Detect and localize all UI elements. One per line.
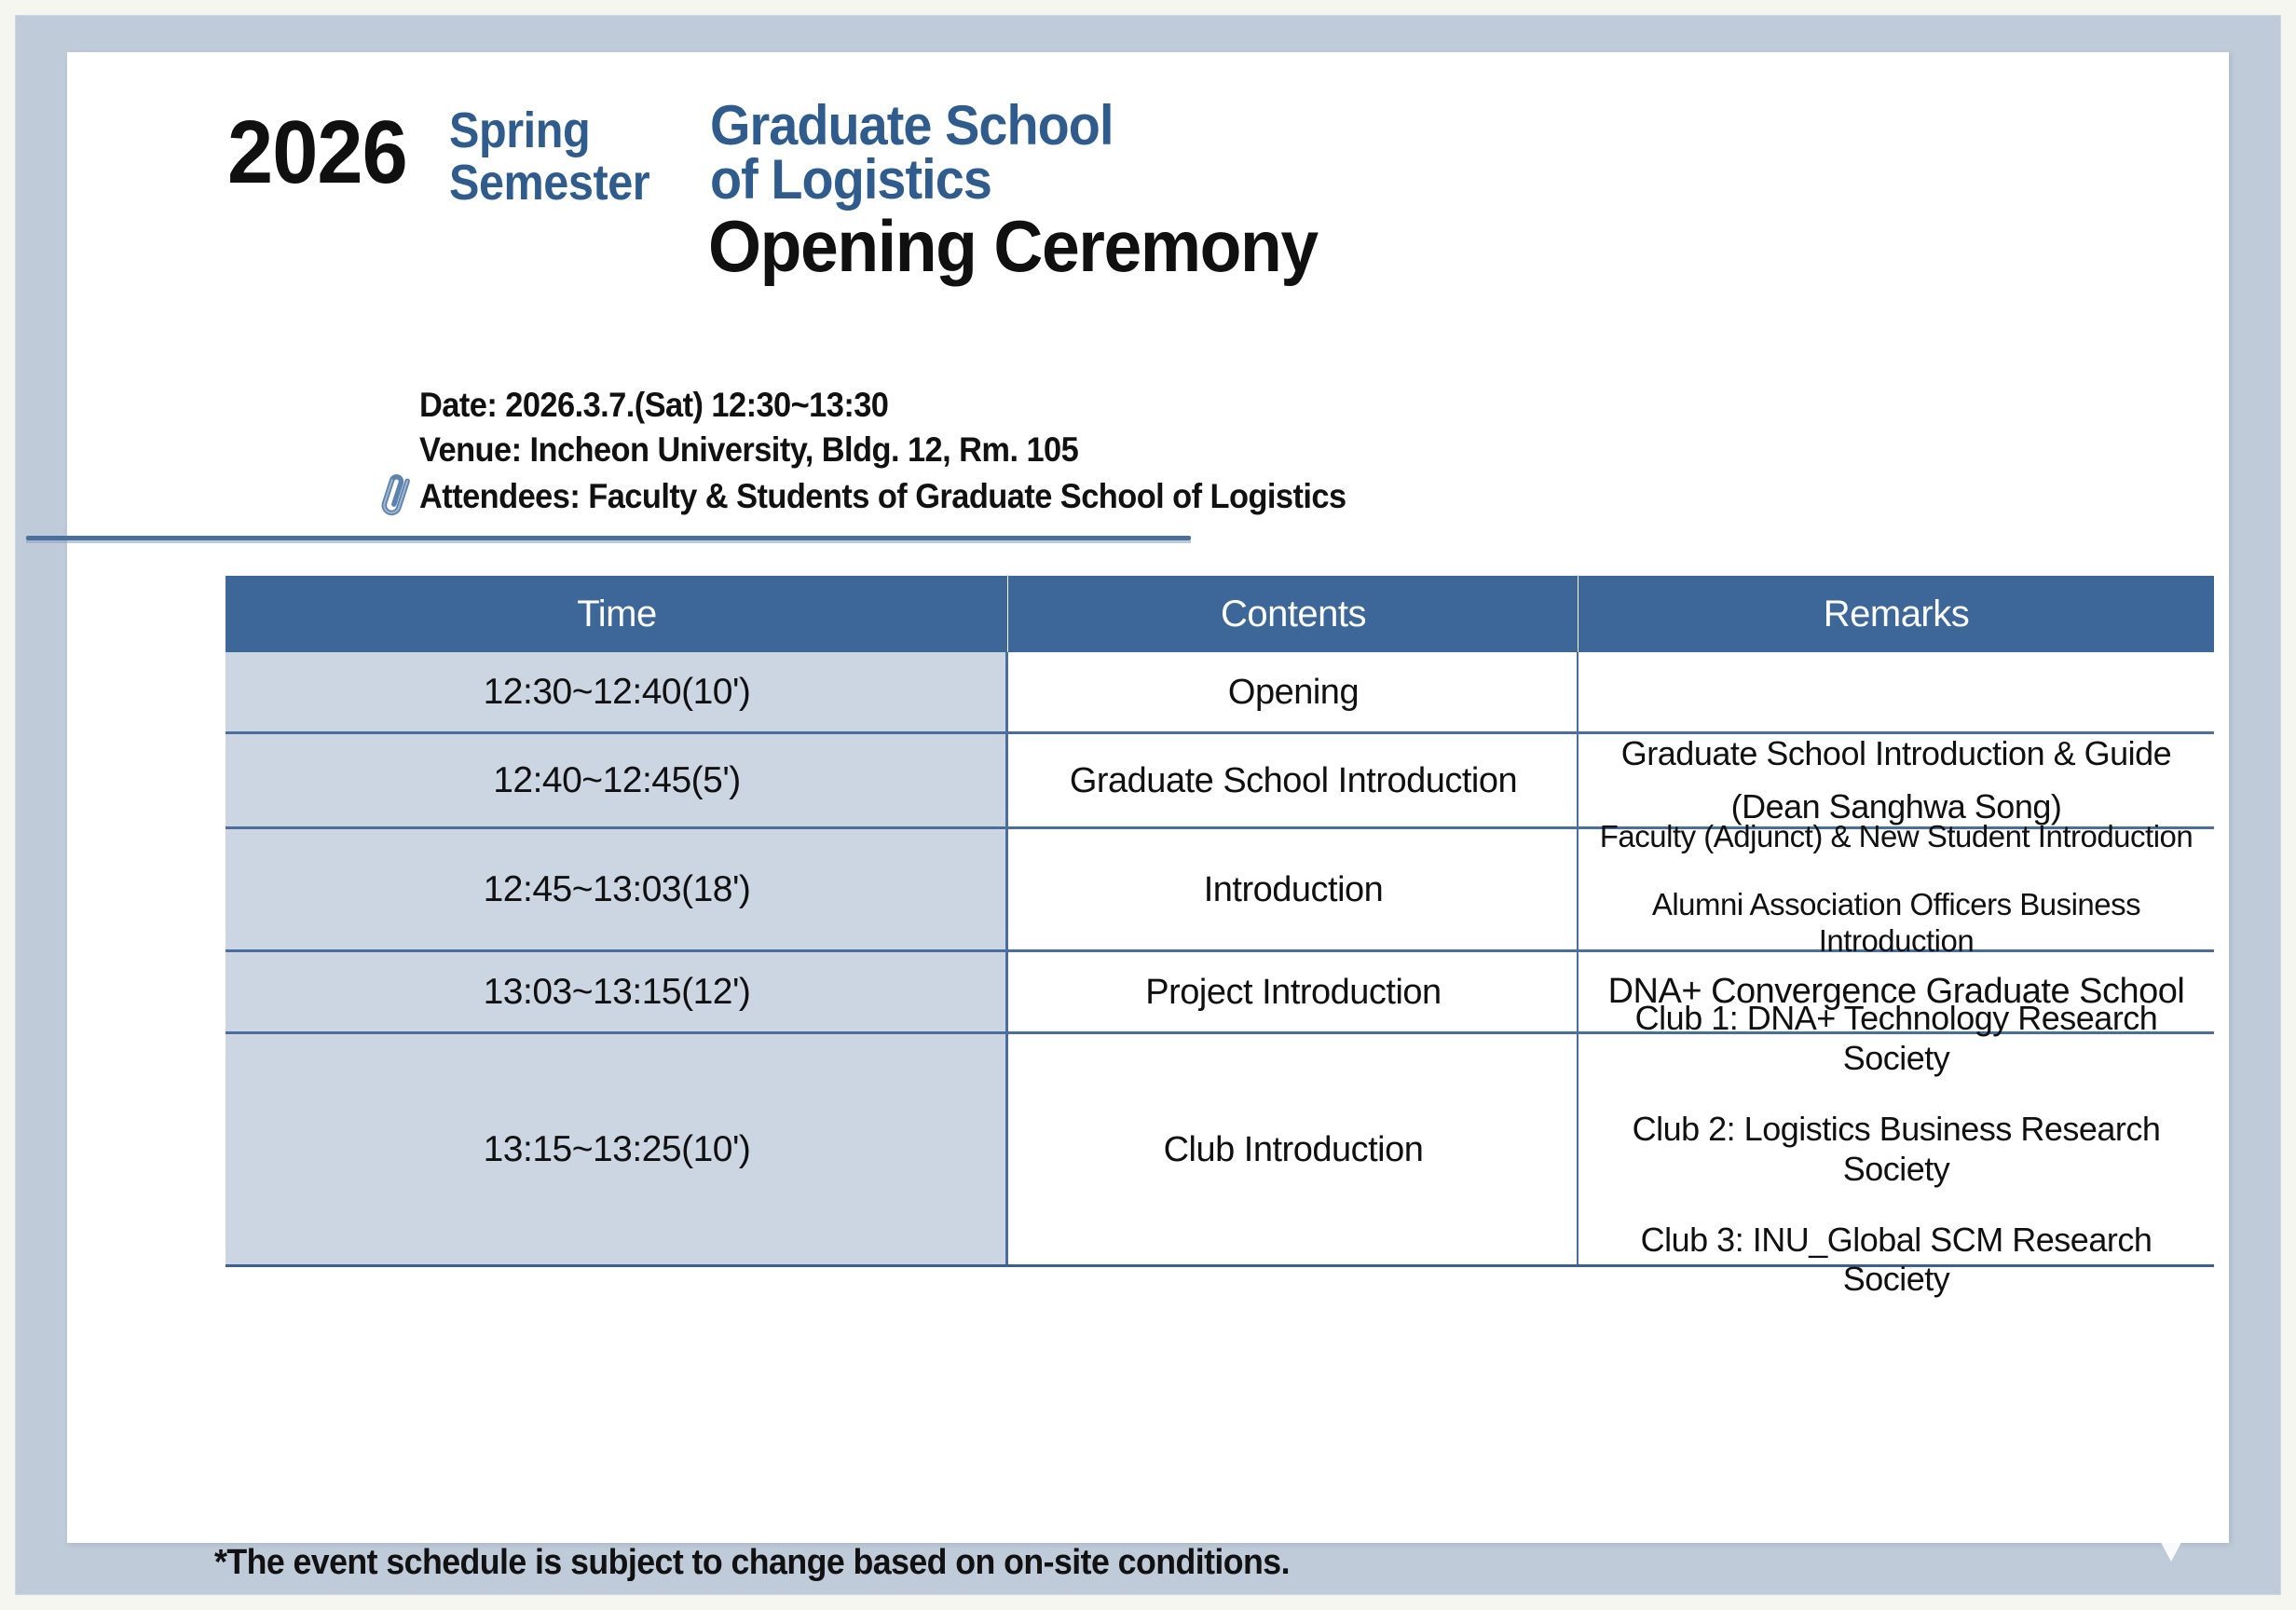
schedule-table-head: Time Contents Remarks <box>225 576 2214 652</box>
cell-time: 12:40~12:45(5') <box>225 734 1008 826</box>
event-venue: Venue: Incheon University, Bldg. 12, Rm.… <box>419 428 1346 472</box>
cell-time: 13:03~13:15(12') <box>225 952 1008 1031</box>
column-header-contents: Contents <box>1008 576 1578 652</box>
title-year: 2026 <box>227 108 407 198</box>
attendee-underline-rule <box>26 536 1191 540</box>
remark-line: Graduate School Introduction & Guide <box>1592 734 2201 773</box>
remark-line: Club 2: Logistics Business Research Soci… <box>1592 1110 2201 1189</box>
table-row: 12:45~13:03(18') Introduction Faculty (A… <box>225 829 2214 952</box>
table-row: 12:40~12:45(5') Graduate School Introduc… <box>225 734 2214 829</box>
schedule-footnote: *The event schedule is subject to change… <box>214 1543 1290 1583</box>
table-row: 13:15~13:25(10') Club Introduction Club … <box>225 1034 2214 1267</box>
poster-sheet: 2026 Spring Semester Graduate School of … <box>67 52 2229 1543</box>
cell-remarks: Graduate School Introduction & Guide (De… <box>1578 734 2214 826</box>
cell-time: 13:15~13:25(10') <box>225 1034 1008 1264</box>
event-info-block: Date: 2026.3.7.(Sat) 12:30~13:30 Venue: … <box>419 383 1415 519</box>
title-school-line2: of Logistics <box>710 153 991 207</box>
remark-line: Club 3: INU_Global SCM Research Society <box>1592 1221 2201 1300</box>
poster-canvas: 2026 Spring Semester Graduate School of … <box>0 0 2296 1610</box>
remark-line: Faculty (Adjunct) & New Student Introduc… <box>1592 819 2201 855</box>
title-school-line1: Graduate School <box>710 99 1114 153</box>
cell-remarks: Club 1: DNA+ Technology Research Society… <box>1578 1034 2214 1264</box>
schedule-table: Time Contents Remarks 12:30~12:40(10') O… <box>225 576 2214 1267</box>
title-event: Opening Ceremony <box>708 209 1318 283</box>
table-row: 12:30~12:40(10') Opening <box>225 652 2214 734</box>
cell-time: 12:30~12:40(10') <box>225 652 1008 731</box>
schedule-table-body: 12:30~12:40(10') Opening 12:40~12:45(5')… <box>225 652 2214 1267</box>
cell-contents: Graduate School Introduction <box>1008 734 1578 826</box>
title-semester-line2: Semester <box>449 157 649 209</box>
cell-contents: Project Introduction <box>1008 952 1578 1031</box>
title-semester-line1: Spring <box>449 104 590 157</box>
event-date: Date: 2026.3.7.(Sat) 12:30~13:30 <box>419 383 1346 428</box>
column-header-time: Time <box>225 576 1008 652</box>
cell-contents: Opening <box>1008 652 1578 731</box>
column-header-remarks: Remarks <box>1578 576 2214 652</box>
page-fold-artifact <box>2126 1474 2229 1549</box>
cell-contents: Club Introduction <box>1008 1034 1578 1264</box>
cell-remarks <box>1578 652 2214 731</box>
cell-remarks: Faculty (Adjunct) & New Student Introduc… <box>1578 829 2214 949</box>
table-header-row: Time Contents Remarks <box>225 576 2214 652</box>
remark-line: Alumni Association Officers Business Int… <box>1592 887 2201 960</box>
cell-contents: Introduction <box>1008 829 1578 949</box>
remark-line: Club 1: DNA+ Technology Research Society <box>1592 999 2201 1078</box>
paperclip-icon <box>375 471 416 519</box>
cell-time: 12:45~13:03(18') <box>225 829 1008 949</box>
event-attendees: Attendees: Faculty & Students of Graduat… <box>419 474 1346 519</box>
